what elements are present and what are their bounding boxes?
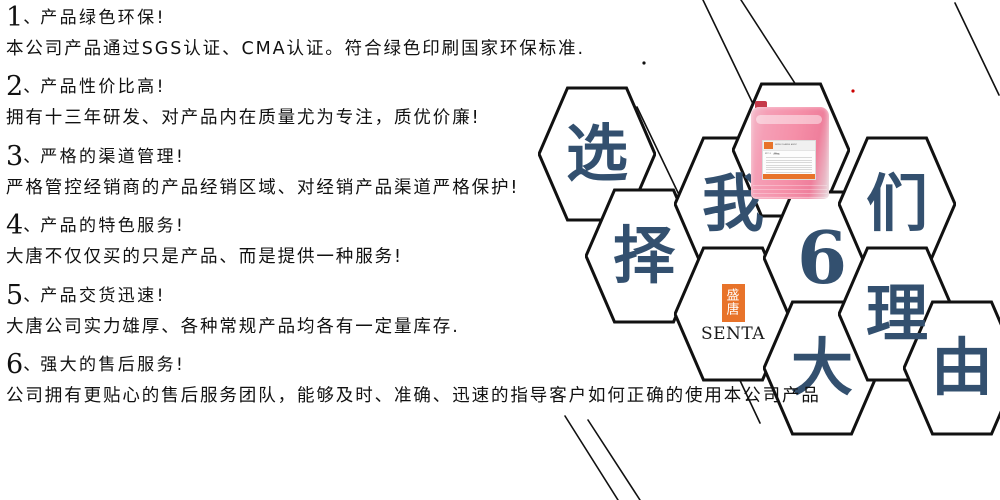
reason-heading: 2、产品性价比高! (6, 73, 996, 100)
list-item: 2、产品性价比高! 拥有十三年研发、对产品内在质量尤为专注，质优价廉! (6, 73, 996, 129)
reason-title: 严格的渠道管理! (40, 147, 185, 167)
reason-index: 6 (6, 349, 23, 380)
reason-separator: 、 (23, 216, 40, 236)
reason-separator: 、 (23, 8, 40, 28)
reason-title: 产品绿色环保! (40, 8, 166, 28)
list-item: 5、产品交货迅速! 大唐公司实力雄厚、各种常规产品均各有一定量库存. (6, 282, 996, 338)
reason-title: 强大的售后服务! (40, 355, 185, 375)
reason-index: 4 (6, 210, 23, 241)
reason-body: 大唐不仅仅买的只是产品、而是提供一种服务! (6, 246, 996, 268)
reason-heading: 3、严格的渠道管理! (6, 143, 996, 170)
reason-separator: 、 (23, 77, 40, 97)
reason-body: 拥有十三年研发、对产品内在质量尤为专注，质优价廉! (6, 107, 996, 129)
reason-heading: 6、强大的售后服务! (6, 351, 996, 378)
reason-body: 公司拥有更贴心的售后服务团队，能够及时、准确、迅速的指导客户如何正确的使用本公司… (6, 385, 996, 407)
reason-heading: 5、产品交货迅速! (6, 282, 996, 309)
reasons-list: 1、产品绿色环保! 本公司产品通过SGS认证、CMA认证。符合绿色印刷国家环保标… (6, 4, 996, 420)
reason-separator: 、 (23, 286, 40, 306)
reason-index: 5 (6, 280, 23, 311)
reason-title: 产品交货迅速! (40, 286, 166, 306)
reason-index: 3 (6, 141, 23, 172)
reason-title: 产品的特色服务! (40, 216, 185, 236)
reason-heading: 4、产品的特色服务! (6, 212, 996, 239)
reason-title: 产品性价比高! (40, 77, 166, 97)
reason-separator: 、 (23, 147, 40, 167)
reason-body: 大唐公司实力雄厚、各种常规产品均各有一定量库存. (6, 316, 996, 338)
reason-index: 1 (6, 2, 23, 33)
list-item: 4、产品的特色服务! 大唐不仅仅买的只是产品、而是提供一种服务! (6, 212, 996, 268)
list-item: 6、强大的售后服务! 公司拥有更贴心的售后服务团队，能够及时、准确、迅速的指导客… (6, 351, 996, 407)
list-item: 1、产品绿色环保! 本公司产品通过SGS认证、CMA认证。符合绿色印刷国家环保标… (6, 4, 996, 60)
reason-heading: 1、产品绿色环保! (6, 4, 996, 31)
list-item: 3、严格的渠道管理! 严格管控经销商的产品经销区域、对经销产品渠道严格保护! (6, 143, 996, 199)
reason-index: 2 (6, 71, 23, 102)
reason-body: 严格管控经销商的产品经销区域、对经销产品渠道严格保护! (6, 177, 996, 199)
reason-separator: 、 (23, 355, 40, 375)
reason-body: 本公司产品通过SGS认证、CMA认证。符合绿色印刷国家环保标准. (6, 38, 996, 60)
